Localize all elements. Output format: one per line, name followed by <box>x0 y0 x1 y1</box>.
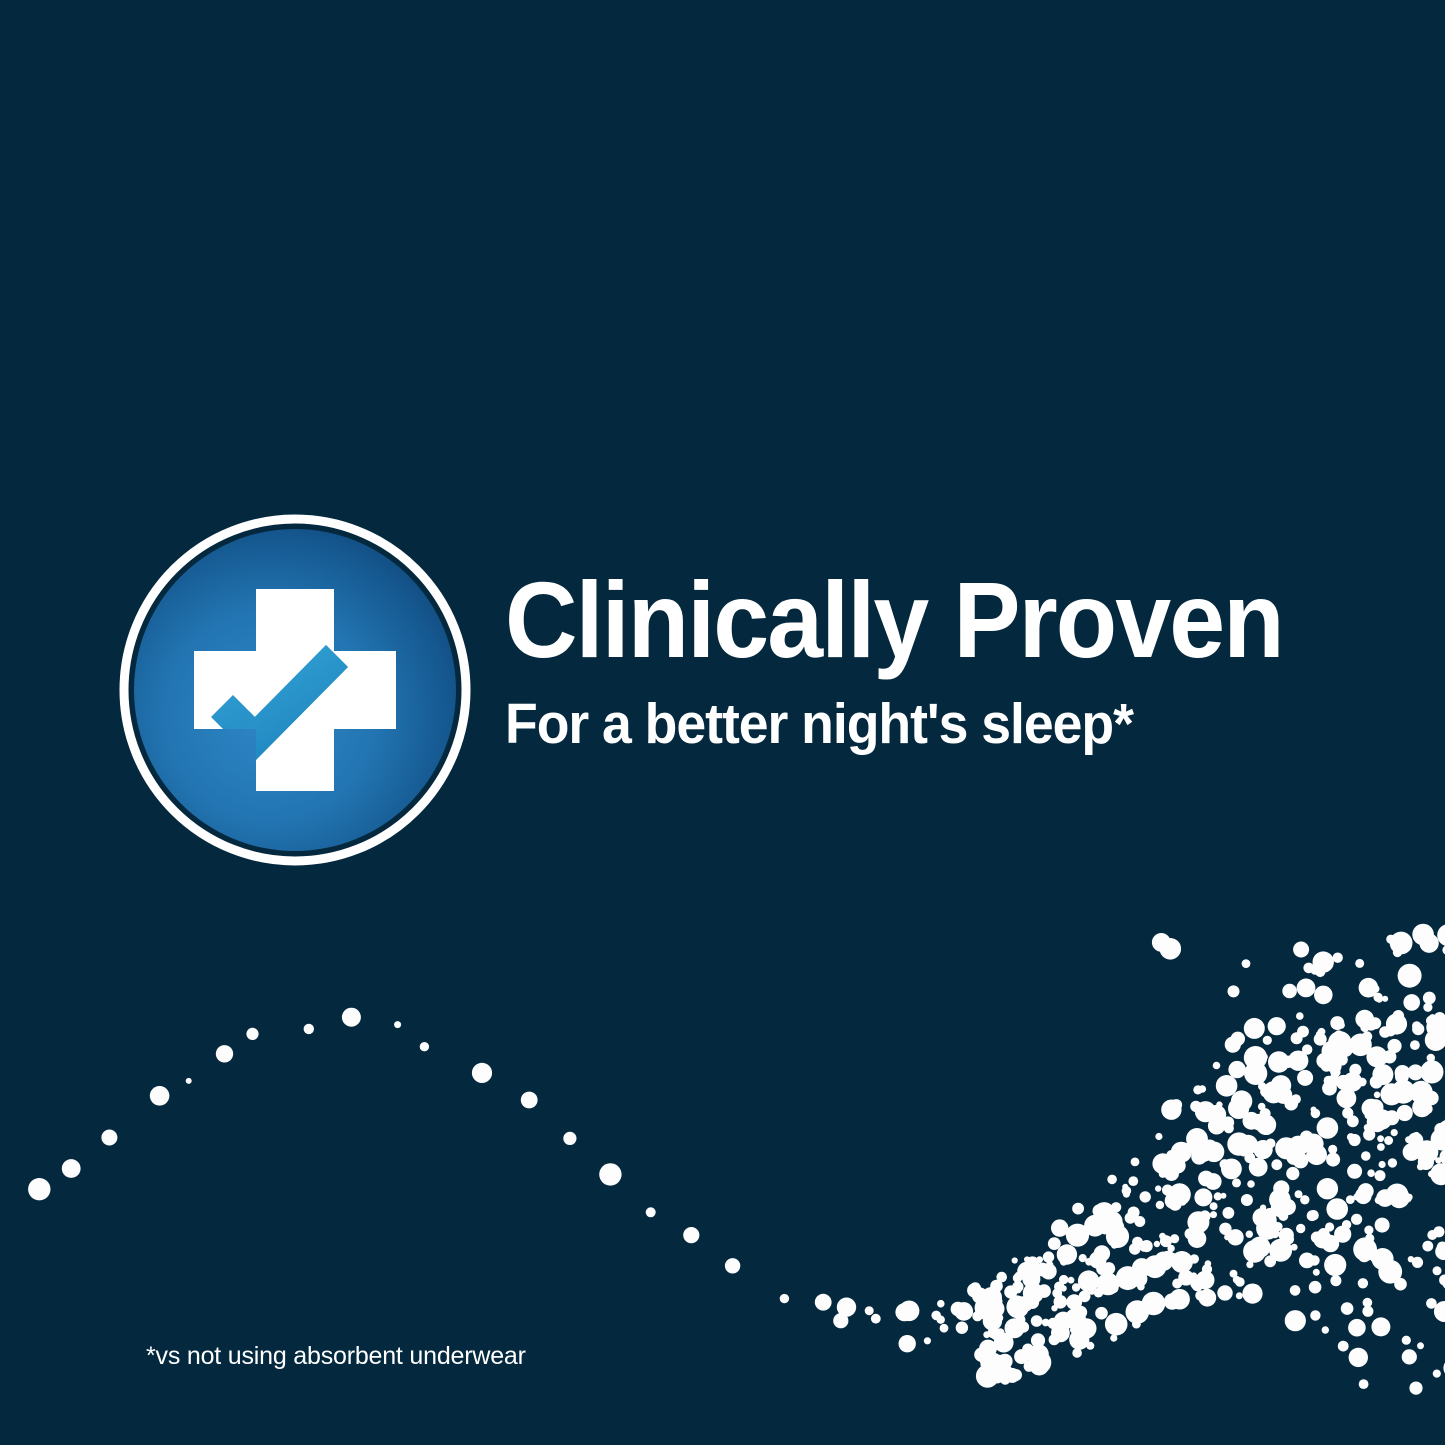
wave-dot <box>1405 1136 1412 1143</box>
wave-dot <box>1375 1197 1382 1204</box>
wave-dot <box>1391 1129 1398 1136</box>
wave-dot <box>1303 963 1314 974</box>
wave-dot <box>1288 1136 1309 1157</box>
wave-dot <box>1288 1051 1308 1071</box>
wave-dot <box>1059 1275 1068 1284</box>
wave-dot <box>931 1311 941 1321</box>
wave-dot <box>1308 1210 1319 1221</box>
wave-dot <box>1359 1379 1369 1389</box>
wave-dot <box>1217 1116 1224 1123</box>
wave-dot <box>1246 1261 1253 1268</box>
wave-dot <box>1227 1132 1250 1155</box>
wave-dot <box>1029 1344 1049 1364</box>
wave-dot <box>1049 1334 1060 1345</box>
wave-dot <box>1213 1062 1221 1070</box>
wave-dot <box>1198 1171 1214 1187</box>
wave-dot <box>1402 1336 1411 1345</box>
wave-dot <box>1427 1054 1435 1062</box>
wave-dot <box>1128 1207 1140 1219</box>
wave-dot <box>1434 1012 1445 1024</box>
wave-dot <box>1179 1199 1186 1206</box>
wave-dot <box>1358 1249 1371 1262</box>
wave-dot <box>1165 1192 1182 1209</box>
wave-dot <box>975 1301 988 1314</box>
wave-dot <box>1366 1046 1387 1067</box>
wave-dot <box>1410 1040 1420 1050</box>
wave-dot <box>1205 1260 1212 1267</box>
wave-dot <box>1244 1018 1265 1039</box>
wave-dot <box>1412 1023 1424 1035</box>
wave-dot <box>1025 1269 1032 1276</box>
wave-dot <box>1434 1123 1445 1136</box>
wave-dot <box>1310 1310 1320 1320</box>
wave-dot <box>1330 1275 1341 1286</box>
wave-dot <box>1256 1217 1279 1240</box>
wave-dot <box>1427 1230 1437 1240</box>
wave-dot <box>1403 994 1420 1011</box>
wave-dot <box>1387 1039 1401 1053</box>
wave-dot <box>1072 1203 1084 1215</box>
wave-dot <box>1412 1021 1421 1030</box>
wave-dot <box>1198 1289 1216 1307</box>
wave-dot <box>1391 1080 1415 1104</box>
wave-dot <box>1221 1159 1242 1180</box>
wave-dot <box>1167 1245 1174 1252</box>
wave-dot <box>1359 978 1379 998</box>
wave-dot <box>1169 1198 1182 1211</box>
wave-dot <box>1023 1283 1044 1304</box>
wave-dot <box>1172 1279 1182 1289</box>
wave-dot <box>1428 1171 1435 1178</box>
wave-dot <box>1110 1335 1117 1342</box>
wave-dot <box>1311 1109 1321 1119</box>
wave-dot <box>1296 1224 1305 1233</box>
wave-dot <box>1398 964 1422 988</box>
wave-dot <box>1054 1282 1064 1292</box>
wave-dot <box>979 1352 993 1366</box>
wave-dot <box>951 1302 966 1317</box>
promo-banner: Clinically Proven For a better night's s… <box>0 0 1445 1445</box>
wave-dot <box>1192 1280 1203 1291</box>
wave-dot <box>1440 1149 1445 1165</box>
wave-dot <box>1236 1292 1243 1299</box>
wave-dot <box>1072 1348 1082 1358</box>
wave-dot <box>1190 1272 1197 1279</box>
wave-dot <box>1347 1164 1362 1179</box>
wave-dot <box>940 1324 949 1333</box>
wave-dot <box>1431 1128 1445 1150</box>
wave-dot <box>1297 979 1316 998</box>
wave-dot <box>1256 1115 1276 1135</box>
wave-dot <box>987 1379 994 1386</box>
wave-dot <box>1328 1145 1337 1154</box>
wave-dot <box>1326 1153 1340 1167</box>
wave-dot <box>983 1311 1002 1330</box>
wave-dot <box>1422 1241 1433 1252</box>
wave-dot <box>1328 1074 1340 1086</box>
wave-dot <box>1245 1026 1252 1033</box>
wave-dot <box>1343 1072 1363 1092</box>
wave-dot <box>1244 1046 1267 1069</box>
wave-dot <box>1162 1185 1173 1196</box>
wave-dot <box>895 1303 913 1321</box>
wave-dot <box>1165 1194 1174 1203</box>
wave-dot <box>101 1130 117 1146</box>
wave-dot <box>1279 1228 1294 1243</box>
wave-dot <box>246 1028 258 1040</box>
wave-dot <box>1013 1273 1022 1282</box>
wave-dot <box>1137 1283 1145 1291</box>
wave-dot <box>1263 1081 1285 1103</box>
wave-dot <box>1106 1225 1129 1248</box>
wave-dot <box>1024 1361 1035 1372</box>
wave-dot <box>1260 1205 1266 1211</box>
wave-dot <box>1355 1010 1374 1029</box>
wave-dot <box>1111 1216 1121 1226</box>
wave-dot <box>1235 1277 1245 1287</box>
wave-dot <box>974 1348 988 1362</box>
wave-dot <box>1054 1295 1068 1309</box>
wave-dot <box>1385 1026 1396 1037</box>
wave-dot <box>1187 1211 1209 1233</box>
wave-dot <box>1012 1281 1023 1292</box>
wave-dot <box>1429 1028 1437 1036</box>
wave-dot <box>1372 1109 1392 1129</box>
wave-dot <box>967 1283 982 1298</box>
wave-dot <box>1208 1117 1225 1134</box>
wave-dot <box>833 1313 848 1328</box>
wave-dot <box>1219 1223 1231 1235</box>
footnote-disclaimer: *vs not using absorbent underwear <box>146 1343 526 1371</box>
wave-dot <box>990 1355 1009 1374</box>
wave-dot <box>1227 1229 1243 1245</box>
wave-dot <box>1187 1135 1207 1155</box>
wave-dot <box>1328 1038 1347 1057</box>
wave-dot <box>1369 1017 1381 1029</box>
wave-dot <box>976 1365 999 1388</box>
wave-dot <box>1128 1176 1138 1186</box>
wave-dot <box>1364 1124 1371 1131</box>
wave-dot <box>1429 1014 1436 1021</box>
wave-dot <box>472 1063 492 1083</box>
wave-dot <box>1358 1278 1368 1288</box>
wave-dot <box>991 1310 1002 1321</box>
wave-dot <box>1056 1291 1062 1297</box>
wave-dot <box>1214 1192 1222 1200</box>
wave-dot <box>990 1359 999 1368</box>
wave-dot <box>997 1354 1012 1369</box>
wave-dot <box>1386 935 1395 944</box>
wave-dot <box>1122 1184 1128 1190</box>
wave-dot <box>1085 1258 1093 1266</box>
wave-dot <box>1216 1075 1238 1097</box>
wave-dot <box>1000 1375 1010 1385</box>
wave-dot <box>646 1207 656 1217</box>
wave-dot <box>1107 1175 1117 1185</box>
wave-dot <box>1358 1078 1367 1087</box>
wave-dot <box>1078 1270 1099 1291</box>
wave-dot <box>1371 1317 1390 1336</box>
wave-dot <box>983 1363 989 1369</box>
wave-dot <box>1306 1144 1327 1165</box>
wave-dot <box>1299 1253 1315 1269</box>
wave-dot <box>986 1294 998 1306</box>
wave-dot <box>1012 1257 1018 1263</box>
wave-dot <box>1133 1303 1140 1310</box>
wave-dot <box>1418 1154 1434 1170</box>
wave-dot <box>420 1042 429 1051</box>
wave-dot <box>1360 1023 1369 1032</box>
wave-dot <box>1199 1210 1210 1221</box>
wave-dot <box>1051 1324 1070 1343</box>
wave-dot <box>599 1163 621 1185</box>
wave-dot <box>1211 1147 1221 1157</box>
wave-dot <box>1300 1195 1309 1204</box>
wave-dot <box>1291 1094 1301 1104</box>
wave-dot <box>1330 1067 1340 1077</box>
wave-dot <box>304 1024 314 1034</box>
wave-dot <box>1195 1101 1216 1122</box>
wave-dot <box>1195 1290 1206 1301</box>
wave-dot <box>1425 1029 1445 1051</box>
wave-dot <box>1358 1183 1374 1199</box>
wave-dot <box>1271 1159 1282 1170</box>
wave-dot <box>1267 1127 1274 1134</box>
wave-dot <box>1326 1198 1348 1220</box>
wave-dot <box>1378 1260 1402 1284</box>
wave-dot <box>1316 1031 1323 1038</box>
wave-dot <box>1070 1325 1079 1334</box>
wave-dot <box>1060 1258 1068 1266</box>
wave-dot <box>1342 1108 1353 1119</box>
wave-dot <box>1408 1256 1414 1262</box>
wave-dot <box>1347 1115 1359 1127</box>
wave-dot <box>1250 1118 1257 1125</box>
wave-dot <box>1362 1099 1381 1118</box>
wave-dot <box>1284 1097 1298 1111</box>
wave-dot <box>1355 1188 1372 1205</box>
wave-dot <box>1322 1081 1337 1096</box>
wave-dot <box>1164 1166 1179 1181</box>
wave-dot <box>1188 1229 1207 1248</box>
wave-dot <box>1322 1326 1329 1333</box>
wave-dot <box>1382 996 1388 1002</box>
wave-dot <box>815 1294 832 1311</box>
wave-dot <box>1295 1055 1302 1062</box>
wave-dot <box>1185 1228 1196 1239</box>
wave-dot <box>1026 1295 1040 1309</box>
wave-dot <box>1433 1266 1442 1275</box>
wave-dot <box>1204 1142 1225 1163</box>
wave-dot <box>994 1333 1014 1353</box>
wave-dot <box>1156 1201 1164 1209</box>
wave-dot <box>1095 1307 1108 1320</box>
wave-dot <box>1224 1123 1234 1133</box>
wave-dot <box>955 1302 974 1321</box>
wave-dot <box>1266 1139 1276 1149</box>
wave-dot <box>1309 1281 1322 1294</box>
wave-dot <box>1369 1115 1386 1132</box>
wave-dot <box>1376 1189 1394 1207</box>
wave-dot <box>1001 1358 1008 1365</box>
wave-dot <box>1379 1026 1391 1038</box>
wave-dot <box>1366 1015 1374 1023</box>
wave-dot <box>1134 1216 1145 1227</box>
wave-dot <box>1380 1083 1402 1105</box>
wave-dot <box>1316 968 1325 977</box>
wave-dot <box>1176 1252 1185 1261</box>
wave-dot <box>1104 1270 1111 1277</box>
wave-dot <box>1342 1220 1351 1229</box>
wave-dot <box>1052 1288 1062 1298</box>
wave-dot <box>1101 1275 1108 1282</box>
wave-dot <box>981 1287 1002 1308</box>
wave-dot <box>1389 1187 1410 1208</box>
wave-dot <box>975 1296 999 1320</box>
wave-dot <box>1238 1135 1258 1155</box>
wave-dot <box>1286 1167 1299 1180</box>
wave-dot <box>1295 1190 1303 1198</box>
wave-dot <box>1282 984 1297 999</box>
wave-dot <box>1102 1211 1122 1231</box>
wave-dot <box>725 1258 740 1273</box>
wave-dot <box>1322 1235 1339 1252</box>
wave-dot <box>1313 1230 1331 1248</box>
wave-dot <box>1220 1159 1230 1169</box>
wave-dot <box>1251 1114 1268 1131</box>
wave-dot <box>1094 1245 1110 1261</box>
wave-dot <box>1270 1229 1279 1238</box>
wave-dot <box>1232 1178 1241 1187</box>
wave-dot <box>991 1296 1003 1308</box>
wave-dot <box>1318 1028 1326 1036</box>
wave-dot <box>1254 1140 1273 1159</box>
wave-dot <box>1364 1017 1378 1031</box>
wave-dot <box>987 1299 999 1311</box>
wave-dot <box>986 1376 994 1384</box>
wave-dot <box>1417 1342 1424 1349</box>
wave-dot <box>1024 1263 1035 1274</box>
wave-dot <box>1424 1091 1439 1106</box>
wave-dot <box>1123 1191 1130 1198</box>
wave-dot <box>1314 986 1333 1005</box>
wave-dot <box>1349 1348 1368 1367</box>
wave-dot <box>1284 1234 1294 1244</box>
wave-dot <box>1386 1184 1409 1207</box>
wave-dot <box>1225 1037 1241 1053</box>
wave-dot <box>1230 1270 1238 1278</box>
wave-dot <box>1296 1012 1304 1020</box>
wave-dot <box>1293 1153 1309 1169</box>
wave-dot <box>1303 1134 1324 1155</box>
wave-dot <box>1022 1344 1033 1355</box>
wave-dot <box>1435 1157 1441 1163</box>
wave-dot <box>1036 1256 1043 1263</box>
wave-dot <box>1170 1158 1186 1174</box>
wave-dot <box>1208 1112 1219 1123</box>
wave-dot <box>1317 1117 1339 1139</box>
wave-dot <box>1199 1134 1206 1141</box>
wave-dot <box>1367 1114 1383 1130</box>
page-subtitle: For a better night's sleep* <box>505 696 1332 753</box>
wave-dot <box>1375 1170 1386 1181</box>
wave-dot <box>1018 1322 1029 1333</box>
wave-dot <box>342 1008 361 1027</box>
wave-dot <box>1072 1283 1080 1291</box>
wave-dot <box>1437 1242 1445 1253</box>
wave-dot <box>1370 1075 1383 1088</box>
wave-dot <box>1269 1189 1291 1211</box>
wave-dot <box>1190 1101 1201 1112</box>
wave-dot <box>1060 1285 1066 1291</box>
wave-dot <box>1258 1103 1266 1111</box>
wave-dot <box>1330 1016 1344 1030</box>
wave-dot <box>1273 1222 1282 1231</box>
headline-group: Clinically Proven For a better night's s… <box>505 566 1385 753</box>
wave-dot <box>1348 1319 1366 1337</box>
wave-dot <box>1152 1153 1173 1174</box>
wave-dot <box>1423 992 1436 1005</box>
wave-dot <box>1026 1256 1039 1269</box>
wave-dot <box>1164 1106 1174 1116</box>
wave-dot <box>1207 1105 1226 1124</box>
wave-dot <box>1160 938 1182 960</box>
wave-dot <box>216 1045 233 1062</box>
wave-dot <box>1422 1104 1432 1114</box>
wave-dot <box>1028 1360 1035 1367</box>
wave-dot <box>1085 1223 1097 1235</box>
wave-dot <box>1247 1180 1255 1188</box>
wave-dot <box>1100 1225 1110 1235</box>
wave-dot <box>1168 1183 1190 1205</box>
wave-dot <box>1276 1052 1286 1062</box>
wave-dot <box>1151 1295 1158 1302</box>
wave-dot <box>1355 959 1364 968</box>
wave-dot <box>1190 1278 1201 1289</box>
wave-dot <box>1370 1250 1384 1264</box>
wave-dot <box>1217 1285 1232 1300</box>
wave-dot <box>1030 1351 1037 1358</box>
wave-dot <box>1076 1318 1096 1338</box>
wave-dot <box>1132 1258 1151 1277</box>
wave-dot <box>1243 1240 1266 1263</box>
wave-dot <box>1285 1310 1306 1331</box>
wave-dot <box>972 1311 982 1321</box>
wave-dot <box>986 1362 994 1370</box>
wave-dot <box>1362 1306 1373 1317</box>
wave-dot <box>1220 1193 1226 1199</box>
wave-dot <box>1313 951 1334 972</box>
wave-dot <box>1132 1320 1141 1329</box>
wave-dot <box>1084 1215 1106 1237</box>
wave-dot <box>1244 1152 1255 1163</box>
wave-dot <box>1280 1199 1296 1215</box>
wave-dot <box>1144 1255 1167 1278</box>
wave-dot <box>1386 1013 1407 1034</box>
wave-dot <box>1161 1100 1181 1120</box>
wave-dot <box>1426 1016 1437 1027</box>
wave-dot <box>1249 1158 1268 1177</box>
wave-dot <box>62 1159 81 1178</box>
wave-dot <box>1173 1188 1184 1199</box>
wave-dot <box>1412 924 1434 946</box>
wave-dot <box>990 1280 1003 1293</box>
wave-dot <box>1370 1117 1378 1125</box>
wave-dot <box>1324 1254 1346 1276</box>
wave-dot <box>1024 1256 1030 1262</box>
wave-dot <box>1292 1154 1303 1165</box>
wave-dot <box>1323 1121 1330 1128</box>
